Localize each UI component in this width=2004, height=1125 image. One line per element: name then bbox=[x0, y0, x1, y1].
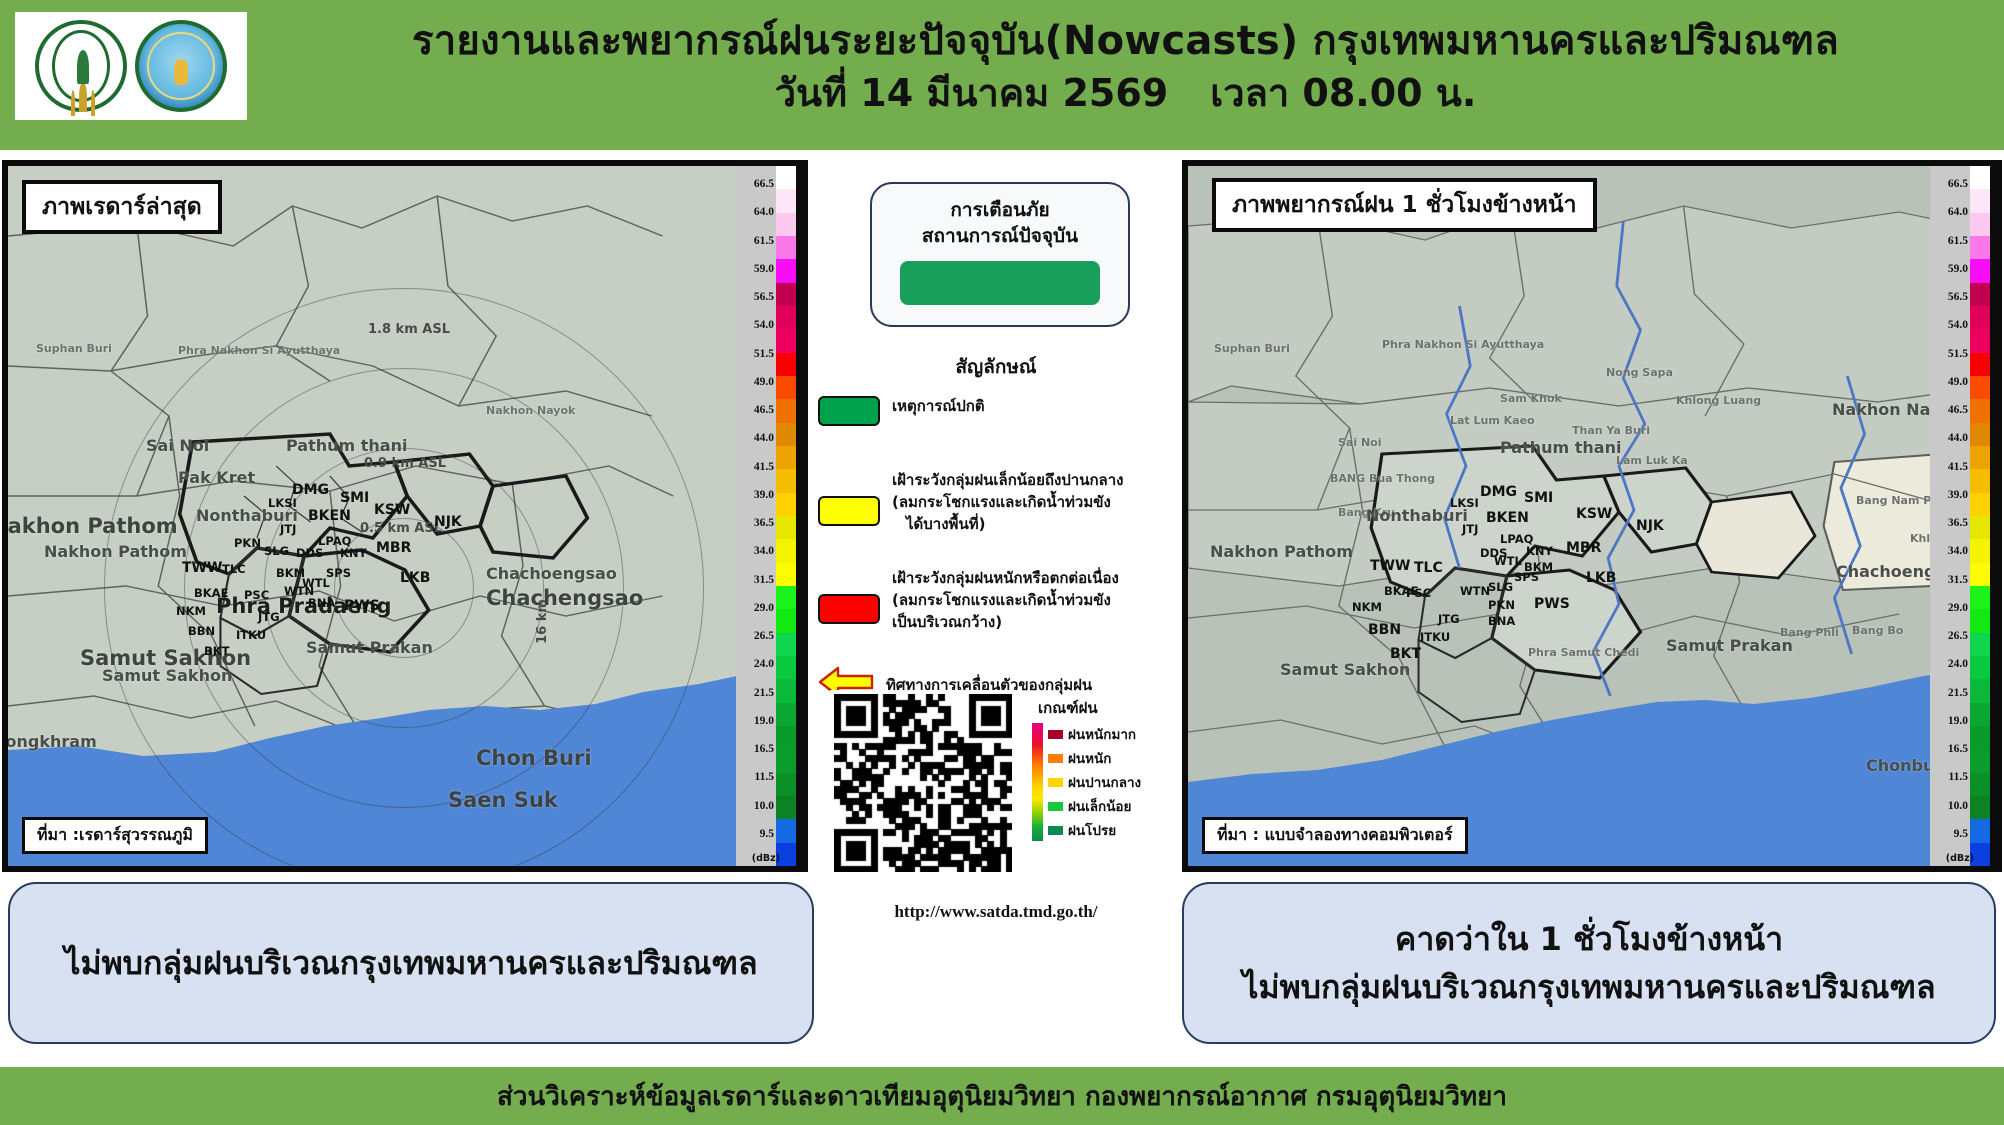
fc-colorbar-tick-labels: 66.564.061.559.056.554.051.549.046.544.0… bbox=[1930, 166, 1970, 866]
legend-yellow-line3: ได้บางพื้นที่) bbox=[892, 514, 1123, 536]
fc-place-sainoi: Sai Noi bbox=[1338, 436, 1381, 449]
fc-place-thanyaburi: Than Ya Buri bbox=[1572, 424, 1650, 437]
colorbar-tick-16: 26.5 bbox=[754, 630, 774, 642]
colorbar-band-25 bbox=[1970, 749, 1990, 772]
fc-station-ITKU: ITKU bbox=[1420, 630, 1450, 644]
page-header: รายงานและพยากรณ์ฝนระยะปัจจุบัน(Nowcasts)… bbox=[0, 0, 2004, 150]
colorbar-band-7 bbox=[1970, 329, 1990, 352]
colorbar-tick-13: 34.0 bbox=[1948, 545, 1968, 557]
colorbar-band-13 bbox=[1970, 469, 1990, 492]
colorbar-tick-8: 46.5 bbox=[1948, 404, 1968, 416]
header-time: เวลา 08.00 น. bbox=[1210, 71, 1476, 115]
colorbar-tick-21: 11.5 bbox=[755, 771, 775, 783]
legend-red-line2: (ลมกระโชกแรงและเกิดน้ำท่วมขัง bbox=[892, 590, 1119, 612]
station-code-BNA: BNA bbox=[308, 596, 335, 610]
legend-red-line3: เป็นบริเวณกว้าง) bbox=[892, 612, 1119, 634]
legend-heading: สัญลักษณ์ bbox=[812, 352, 1180, 382]
legend-item-red-text: เฝ้าระวังกลุ่มฝนหนักหรือตกต่อเนื่อง (ลมก… bbox=[892, 568, 1119, 633]
fc-station-SMI: SMI bbox=[1524, 490, 1553, 506]
place-label-songkhram: Songkhram bbox=[2, 732, 97, 751]
station-code-NJK: NJK bbox=[434, 514, 462, 530]
legend-yellow-line1: เฝ้าระวังกลุ่มฝนเล็กน้อยถึงปานกลาง bbox=[892, 470, 1123, 492]
station-code-MBR: MBR bbox=[376, 540, 411, 556]
rain-criteria-label-0: ฝนหนักมาก bbox=[1068, 723, 1136, 745]
warning-title-line1: การเตือนภัย bbox=[950, 198, 1049, 224]
fc-place-suphanburi: Suphan Buri bbox=[1214, 342, 1290, 355]
legend-item-red: เฝ้าระวังกลุ่มฝนหนักหรือตกต่อเนื่อง (ลมก… bbox=[818, 568, 1180, 633]
fc-place-bangbuathong: BANG Bua Thong bbox=[1330, 472, 1435, 485]
colorbar-tick-6: 51.5 bbox=[1948, 348, 1968, 360]
colorbar-tick-18: 21.5 bbox=[1948, 687, 1968, 699]
place-label-suphanburi: Suphan Buri bbox=[36, 342, 112, 355]
colorbar-band-26 bbox=[1970, 773, 1990, 796]
colorbar-band-7 bbox=[776, 329, 796, 352]
colorbar-tick-18: 21.5 bbox=[754, 687, 774, 699]
ring-label-1: 1.8 km ASL bbox=[368, 322, 450, 337]
colorbar-tick-5: 54.0 bbox=[754, 319, 774, 331]
colorbar-band-17 bbox=[776, 563, 796, 586]
station-code-KSW: KSW bbox=[374, 502, 410, 518]
radar-panel-title: ภาพเรดาร์ล่าสุด bbox=[22, 180, 222, 234]
colorbar-band-16 bbox=[776, 539, 796, 562]
colorbar-tick-21: 11.5 bbox=[1949, 771, 1969, 783]
fc-station-SPS: SPS bbox=[1514, 570, 1539, 584]
colorbar-band-8 bbox=[776, 353, 796, 376]
colorbar-band-28 bbox=[1970, 819, 1990, 842]
place-label-chachengsao: Chachengsao bbox=[486, 586, 643, 610]
colorbar-band-2 bbox=[776, 213, 796, 236]
colorbar-band-5 bbox=[776, 283, 796, 306]
radar-map-canvas[interactable]: 1.8 km ASL 0.9 km ASL 0.5 km ASL 16 km S… bbox=[8, 166, 802, 866]
colorbar-tick-12: 36.5 bbox=[1948, 517, 1968, 529]
warning-title-line2: สถานการณ์ปัจจุบัน bbox=[922, 224, 1078, 250]
colorbar-tick-12: 36.5 bbox=[754, 517, 774, 529]
colorbar-band-20 bbox=[776, 633, 796, 656]
fc-place-samutprakan: Samut Prakan bbox=[1666, 636, 1793, 655]
legend-item-yellow-text: เฝ้าระวังกลุ่มฝนเล็กน้อยถึงปานกลาง (ลมกร… bbox=[892, 470, 1123, 535]
fc-place-nakhonpathom: Nakhon Pathom bbox=[1210, 542, 1353, 561]
colorbar-tick-10: 41.5 bbox=[754, 461, 774, 473]
fc-station-KSW: KSW bbox=[1576, 506, 1612, 522]
colorbar-tick-8: 46.5 bbox=[754, 404, 774, 416]
page-title: รายงานและพยากรณ์ฝนระยะปัจจุบัน(Nowcasts)… bbox=[247, 16, 2004, 66]
station-code-DDS: DDS bbox=[296, 546, 323, 560]
colorbar-band-25 bbox=[776, 749, 796, 772]
rain-chip-drizzle-icon bbox=[1048, 826, 1063, 835]
tmd-seal-icon bbox=[135, 20, 227, 112]
station-code-BKEN: BKEN bbox=[308, 508, 351, 524]
colorbar-tick-20: 16.5 bbox=[1948, 743, 1968, 755]
colorbar-band-0 bbox=[776, 166, 796, 189]
station-code-BKT: BKT bbox=[204, 644, 230, 658]
fc-station-SLG: SLG bbox=[1488, 580, 1513, 594]
current-summary-line1: ไม่พบกลุ่มฝนบริเวณกรุงเทพมหานครและปริมณฑ… bbox=[64, 939, 757, 987]
colorbar-band-18 bbox=[1970, 586, 1990, 609]
colorbar-band-16 bbox=[1970, 539, 1990, 562]
colorbar-tick-3: 59.0 bbox=[1948, 263, 1968, 275]
colorbar-tick-14: 31.5 bbox=[1948, 574, 1968, 586]
colorbar-band-20 bbox=[1970, 633, 1990, 656]
place-label-pakkret: Pak Kret bbox=[178, 468, 255, 487]
fc-station-BBN: BBN bbox=[1368, 622, 1401, 638]
colorbar-unit-label: (dBz) bbox=[752, 853, 780, 864]
station-code-PKN: PKN bbox=[234, 536, 261, 550]
fc-station-DMG: DMG bbox=[1480, 484, 1517, 500]
colorbar-tick-17: 24.0 bbox=[1948, 658, 1968, 670]
red-status-swatch-icon bbox=[818, 594, 880, 624]
station-code-NKM: NKM bbox=[176, 604, 206, 618]
legend-red-line1: เฝ้าระวังกลุ่มฝนหนักหรือตกต่อเนื่อง bbox=[892, 568, 1119, 590]
colorbar-band-3 bbox=[1970, 236, 1990, 259]
colorbar-tick-22: 10.0 bbox=[754, 800, 774, 812]
rain-chip-moderate-icon bbox=[1048, 778, 1063, 787]
rain-criteria-item-2: ฝนปานกลาง bbox=[1048, 771, 1141, 793]
station-code-BBN: BBN bbox=[188, 624, 215, 638]
station-code-PSC: PSC bbox=[244, 588, 269, 602]
colorbar-tick-7: 49.0 bbox=[1948, 376, 1968, 388]
rain-criteria-body: ฝนหนักมาก ฝนหนัก ฝนปานกลาง ฝนเล็กน้ bbox=[1032, 723, 1182, 841]
place-label-nakhonpathom: Nakhon Pathom bbox=[44, 542, 187, 561]
legend-normal-line1: เหตุการณ์ปกติ bbox=[892, 396, 985, 418]
fc-station-BKEN: BKEN bbox=[1486, 510, 1529, 526]
colorbar-tick-11: 39.0 bbox=[1948, 489, 1968, 501]
fc-station-LKSI: LKSI bbox=[1450, 496, 1479, 510]
colorbar-tick-19: 19.0 bbox=[1948, 715, 1968, 727]
colorbar-tick-15: 29.0 bbox=[1948, 602, 1968, 614]
rain-criteria-legend: เกณฑ์ฝน ฝนหนักมาก ฝนหนัก bbox=[1032, 696, 1182, 841]
fc-station-BKAE: BKAE bbox=[1384, 584, 1418, 598]
rain-criteria-item-0: ฝนหนักมาก bbox=[1048, 723, 1141, 745]
qr-code-satda-tmd-icon[interactable] bbox=[830, 690, 1016, 876]
colorbar-band-11 bbox=[1970, 423, 1990, 446]
fc-station-WTN: WTN bbox=[1460, 584, 1490, 598]
station-code-JTJ: JTJ bbox=[280, 522, 296, 536]
legend-item-normal: เหตุการณ์ปกติ bbox=[818, 396, 1180, 426]
colorbar-tick-6: 51.5 bbox=[754, 348, 774, 360]
colorbar-band-9 bbox=[1970, 376, 1990, 399]
footer-text: ส่วนวิเคราะห์ข้อมูลเรดาร์และดาวเทียมอุตุ… bbox=[497, 1076, 1507, 1117]
colorbar-tick-1: 64.0 bbox=[754, 206, 774, 218]
colorbar-tick-20: 16.5 bbox=[754, 743, 774, 755]
warning-status-indicator bbox=[900, 261, 1100, 305]
colorbar-color-strip bbox=[776, 166, 796, 866]
fc-station-TLC: TLC bbox=[1414, 560, 1443, 576]
colorbar-band-5 bbox=[1970, 283, 1990, 306]
legend-yellow-line2: (ลมกระโชกแรงและเกิดน้ำท่วมขัง bbox=[892, 492, 1123, 514]
colorbar-tick-13: 34.0 bbox=[754, 545, 774, 557]
fc-station-KNY: KNY bbox=[1526, 544, 1553, 558]
warning-status-box: การเตือนภัย สถานการณ์ปัจจุบัน bbox=[870, 182, 1130, 327]
colorbar-band-12 bbox=[776, 446, 796, 469]
station-code-BKAE: BKAE bbox=[194, 586, 228, 600]
colorbar-tick-4: 56.5 bbox=[754, 291, 774, 303]
station-code-JTG: JTG bbox=[258, 610, 280, 624]
forecast-summary-line1: คาดว่าใน 1 ชั่วโมงข้างหน้า bbox=[1395, 915, 1783, 963]
colorbar-band-26 bbox=[776, 773, 796, 796]
colorbar-band-9 bbox=[776, 376, 796, 399]
colorbar-band-1 bbox=[776, 189, 796, 212]
colorbar-band-14 bbox=[1970, 493, 1990, 516]
forecast-1hr-panel[interactable]: Suphan Buri Phra Nakhon Si Ayutthaya Non… bbox=[1182, 160, 2002, 872]
fc-station-PKN: PKN bbox=[1488, 598, 1515, 612]
station-code-BKM: BKM bbox=[276, 566, 305, 580]
forecast-panel-title: ภาพพยากรณ์ฝน 1 ชั่วโมงข้างหน้า bbox=[1212, 178, 1597, 232]
colorbar-tick-15: 29.0 bbox=[754, 602, 774, 614]
colorbar-band-15 bbox=[1970, 516, 1990, 539]
place-label-pathumthani: Pathum thani bbox=[286, 436, 407, 455]
colorbar-tick-23: 9.5 bbox=[760, 828, 774, 840]
fc-place-latlumkaeo: Lat Lum Kaeo bbox=[1450, 414, 1535, 427]
current-summary-box: ไม่พบกลุ่มฝนบริเวณกรุงเทพมหานครและปริมณฑ… bbox=[8, 882, 814, 1044]
station-code-ITKU: ITKU bbox=[236, 628, 266, 642]
colorbar-tick-0: 66.5 bbox=[754, 178, 774, 190]
colorbar-band-13 bbox=[776, 469, 796, 492]
colorbar-band-1 bbox=[1970, 189, 1990, 212]
rain-criteria-label-4: ฝนโปรย bbox=[1068, 819, 1116, 841]
rain-criteria-gradient-bar bbox=[1032, 723, 1043, 841]
fc-station-BKT: BKT bbox=[1390, 646, 1421, 662]
rain-chip-light-icon bbox=[1048, 802, 1063, 811]
forecast-summary-line2: ไม่พบกลุ่มฝนบริเวณกรุงเทพมหานครและปริมณฑ… bbox=[1242, 963, 1935, 1011]
forecast-map-canvas[interactable]: Suphan Buri Phra Nakhon Si Ayutthaya Non… bbox=[1188, 166, 1996, 866]
colorbar-band-8 bbox=[1970, 353, 1990, 376]
colorbar-tick-16: 26.5 bbox=[1948, 630, 1968, 642]
colorbar-band-15 bbox=[776, 516, 796, 539]
forecast-reflectivity-colorbar: 66.564.061.559.056.554.051.549.046.544.0… bbox=[1930, 166, 1996, 866]
radar-panel-source: ที่มา :เรดาร์สุวรรณภูมิ bbox=[22, 817, 208, 854]
yellow-status-swatch-icon bbox=[818, 496, 880, 526]
colorbar-band-24 bbox=[776, 726, 796, 749]
place-label-nakhonpathom-big: Nakhon Pathom bbox=[2, 514, 178, 538]
fc-station-PWS: PWS bbox=[1534, 596, 1570, 612]
header-date: วันที่ 14 มีนาคม 2569 bbox=[775, 71, 1169, 115]
colorbar-tick-9: 44.0 bbox=[1948, 432, 1968, 444]
colorbar-band-22 bbox=[776, 679, 796, 702]
fc-place-lamlukka: Lam Luk Ka bbox=[1616, 454, 1688, 467]
colorbar-band-27 bbox=[1970, 796, 1990, 819]
rain-criteria-item-1: ฝนหนัก bbox=[1048, 747, 1141, 769]
page-footer: ส่วนวิเคราะห์ข้อมูลเรดาร์และดาวเทียมอุตุ… bbox=[0, 1067, 2004, 1125]
place-label-samutsakhon: Samut Sakhon bbox=[102, 666, 232, 685]
fc-place-nongsapa: Nong Sapa bbox=[1606, 366, 1673, 379]
legend-item-normal-text: เหตุการณ์ปกติ bbox=[892, 396, 985, 426]
colorbar-tick-1: 64.0 bbox=[1948, 206, 1968, 218]
ring-label-2: 0.9 km ASL bbox=[364, 456, 446, 471]
colorbar-band-6 bbox=[1970, 306, 1990, 329]
colorbar-tick-7: 49.0 bbox=[754, 376, 774, 388]
place-label-nakhonnayok: Nakhon Nayok bbox=[486, 404, 575, 417]
colorbar-tick-3: 59.0 bbox=[754, 263, 774, 275]
colorbar-band-21 bbox=[776, 656, 796, 679]
fc-station-JTG: JTG bbox=[1438, 612, 1460, 626]
colorbar-band-22 bbox=[1970, 679, 1990, 702]
station-code-PWS: PWS bbox=[344, 598, 380, 614]
colorbar-band-11 bbox=[776, 423, 796, 446]
forecast-panel-source: ที่มา : แบบจำลองทางคอมพิวเตอร์ bbox=[1202, 817, 1468, 854]
fc-station-LKB: LKB bbox=[1586, 570, 1616, 586]
colorbar-tick-4: 56.5 bbox=[1948, 291, 1968, 303]
colorbar-band-6 bbox=[776, 306, 796, 329]
fc-place-bangbo: Bang Bo bbox=[1852, 624, 1903, 637]
radar-latest-panel[interactable]: 1.8 km ASL 0.9 km ASL 0.5 km ASL 16 km S… bbox=[2, 160, 808, 872]
rain-criteria-item-3: ฝนเล็กน้อย bbox=[1048, 795, 1141, 817]
rain-criteria-title: เกณฑ์ฝน bbox=[1038, 696, 1182, 720]
colorbar-band-19 bbox=[1970, 609, 1990, 632]
logo-container bbox=[15, 12, 247, 120]
fc-place-khlongluang: Khlong Luang bbox=[1676, 394, 1761, 407]
place-label-saensuk: Saen Suk bbox=[448, 788, 558, 812]
legend-item-yellow: เฝ้าระวังกลุ่มฝนเล็กน้อยถึงปานกลาง (ลมกร… bbox=[818, 470, 1180, 535]
colorbar-tick-14: 31.5 bbox=[754, 574, 774, 586]
colorbar-band-23 bbox=[1970, 703, 1990, 726]
colorbar-band-27 bbox=[776, 796, 796, 819]
place-label-chachoengsao: Chachoengsao bbox=[486, 564, 617, 583]
colorbar-band-10 bbox=[776, 399, 796, 422]
rain-chip-very-heavy-icon bbox=[1048, 730, 1063, 739]
colorbar-band-17 bbox=[1970, 563, 1990, 586]
colorbar-tick-22: 10.0 bbox=[1948, 800, 1968, 812]
colorbar-tick-23: 9.5 bbox=[1954, 828, 1968, 840]
colorbar-band-21 bbox=[1970, 656, 1990, 679]
colorbar-band-10 bbox=[1970, 399, 1990, 422]
fc-station-BNA: BNA bbox=[1488, 614, 1515, 628]
colorbar-band-19 bbox=[776, 609, 796, 632]
rain-criteria-label-2: ฝนปานกลาง bbox=[1068, 771, 1141, 793]
colorbar-band-0 bbox=[1970, 166, 1990, 189]
fc-station-MBR: MBR bbox=[1566, 540, 1601, 556]
radar-reflectivity-colorbar: 66.564.061.559.056.554.051.549.046.544.0… bbox=[736, 166, 802, 866]
satda-url-link[interactable]: http://www.satda.tmd.go.th/ bbox=[812, 902, 1180, 922]
rain-criteria-label-1: ฝนหนัก bbox=[1068, 747, 1111, 769]
forecast-summary-box: คาดว่าใน 1 ชั่วโมงข้างหน้า ไม่พบกลุ่มฝนบ… bbox=[1182, 882, 1996, 1044]
place-label-chonburi: Chon Buri bbox=[476, 746, 592, 770]
colorbar-band-24 bbox=[1970, 726, 1990, 749]
green-status-swatch-icon bbox=[818, 396, 880, 426]
header-title-block: รายงานและพยากรณ์ฝนระยะปัจจุบัน(Nowcasts)… bbox=[247, 16, 2004, 119]
colorbar-tick-11: 39.0 bbox=[754, 489, 774, 501]
colorbar-tick-10: 41.5 bbox=[1948, 461, 1968, 473]
colorbar-tick-labels: 66.564.061.559.056.554.051.549.046.544.0… bbox=[736, 166, 776, 866]
rain-chip-heavy-icon bbox=[1048, 754, 1063, 763]
ring-label-3: 0.5 km ASL bbox=[360, 521, 442, 536]
colorbar-band-4 bbox=[1970, 259, 1990, 282]
fc-place-pathumthani: Pathum thani bbox=[1500, 438, 1621, 457]
fc-colorbar-color-strip bbox=[1970, 166, 1990, 866]
colorbar-band-12 bbox=[1970, 446, 1990, 469]
fc-station-NJK: NJK bbox=[1636, 518, 1664, 534]
rain-criteria-item-4: ฝนโปรย bbox=[1048, 819, 1141, 841]
legend-column: การเตือนภัย สถานการณ์ปัจจุบัน สัญลักษณ์ … bbox=[812, 160, 1180, 1060]
colorbar-tick-5: 54.0 bbox=[1948, 319, 1968, 331]
station-code-WTN: WTN bbox=[284, 584, 314, 598]
rain-criteria-items: ฝนหนักมาก ฝนหนัก ฝนปานกลาง ฝนเล็กน้ bbox=[1048, 723, 1141, 841]
colorbar-band-3 bbox=[776, 236, 796, 259]
rain-criteria-label-3: ฝนเล็กน้อย bbox=[1068, 795, 1131, 817]
colorbar-tick-2: 61.5 bbox=[754, 235, 774, 247]
colorbar-band-28 bbox=[776, 819, 796, 842]
header-datetime: วันที่ 14 มีนาคม 2569เวลา 08.00 น. bbox=[247, 68, 2004, 119]
station-code-TLC: TLC bbox=[222, 562, 246, 576]
fc-colorbar-unit-label: (dBz) bbox=[1946, 853, 1974, 864]
fc-station-JTJ: JTJ bbox=[1462, 522, 1478, 536]
colorbar-tick-9: 44.0 bbox=[754, 432, 774, 444]
station-code-SLG: SLG bbox=[264, 544, 289, 558]
station-code-LKB: LKB bbox=[400, 570, 430, 586]
place-label-ayutthaya: Phra Nakhon Si Ayutthaya bbox=[178, 344, 340, 357]
colorbar-tick-2: 61.5 bbox=[1948, 235, 1968, 247]
colorbar-band-23 bbox=[776, 703, 796, 726]
royal-project-seal-icon bbox=[35, 20, 127, 112]
colorbar-band-14 bbox=[776, 493, 796, 516]
fc-station-TWW: TWW bbox=[1370, 558, 1410, 574]
colorbar-tick-0: 66.5 bbox=[1948, 178, 1968, 190]
fc-place-phrasamutchedi: Phra Samut Chedi bbox=[1528, 646, 1639, 659]
fc-place-ayutthaya: Phra Nakhon Si Ayutthaya bbox=[1382, 338, 1544, 351]
fc-station-NKM: NKM bbox=[1352, 600, 1382, 614]
station-code-TWW: TWW bbox=[182, 560, 222, 576]
fc-station-WTL: WTL bbox=[1494, 554, 1522, 568]
colorbar-tick-17: 24.0 bbox=[754, 658, 774, 670]
fc-place-samkhok: Sam Khok bbox=[1500, 392, 1562, 405]
station-code-DMG: DMG bbox=[292, 482, 329, 498]
place-label-sainoi: Sai Noi bbox=[146, 436, 209, 455]
station-code-LKSI: LKSI bbox=[268, 496, 297, 510]
station-code-KNY: KNY bbox=[340, 546, 367, 560]
station-code-SMI: SMI bbox=[340, 490, 369, 506]
colorbar-band-2 bbox=[1970, 213, 1990, 236]
colorbar-band-4 bbox=[776, 259, 796, 282]
colorbar-band-18 bbox=[776, 586, 796, 609]
place-label-samutprakan: Samut Prakan bbox=[306, 638, 433, 657]
fc-place-samutsakhon: Samut Sakhon bbox=[1280, 660, 1410, 679]
colorbar-tick-19: 19.0 bbox=[754, 715, 774, 727]
